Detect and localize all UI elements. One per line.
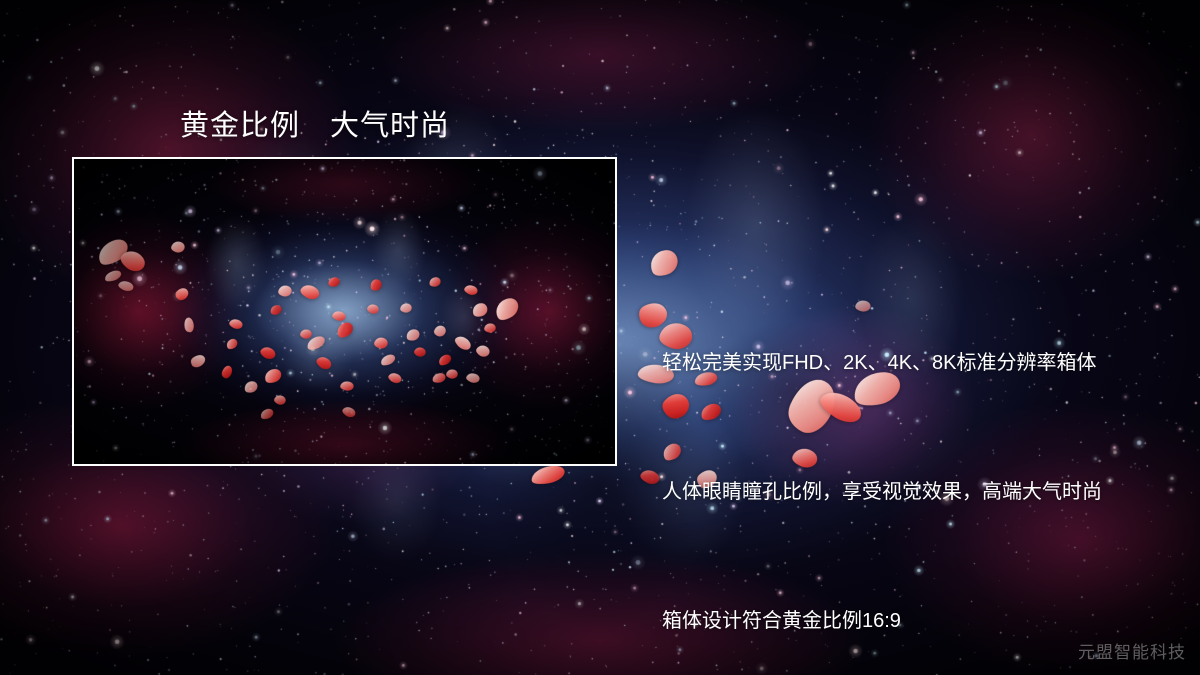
body-text-block: 轻松完美实现FHD、2K、4K、8K标准分辨率箱体 人体眼睛瞳孔比例，享受视觉效…: [662, 256, 1102, 675]
preview-vignette: [74, 159, 615, 464]
body-line-3: 箱体设计符合黄金比例16:9: [662, 600, 1102, 643]
presentation-slide: 黄金比例 大气时尚 轻松完美实现FHD、2K、4K、8K标准分辨率箱体 人体眼睛…: [0, 0, 1200, 675]
preview-image-inner: [74, 159, 615, 464]
framed-preview-image[interactable]: [72, 157, 617, 466]
body-line-2: 人体眼睛瞳孔比例，享受视觉效果，高端大气时尚: [662, 471, 1102, 514]
page-title: 黄金比例 大气时尚: [180, 102, 450, 144]
watermark: 元盟智能科技: [1078, 638, 1186, 663]
body-line-1: 轻松完美实现FHD、2K、4K、8K标准分辨率箱体: [662, 342, 1102, 385]
